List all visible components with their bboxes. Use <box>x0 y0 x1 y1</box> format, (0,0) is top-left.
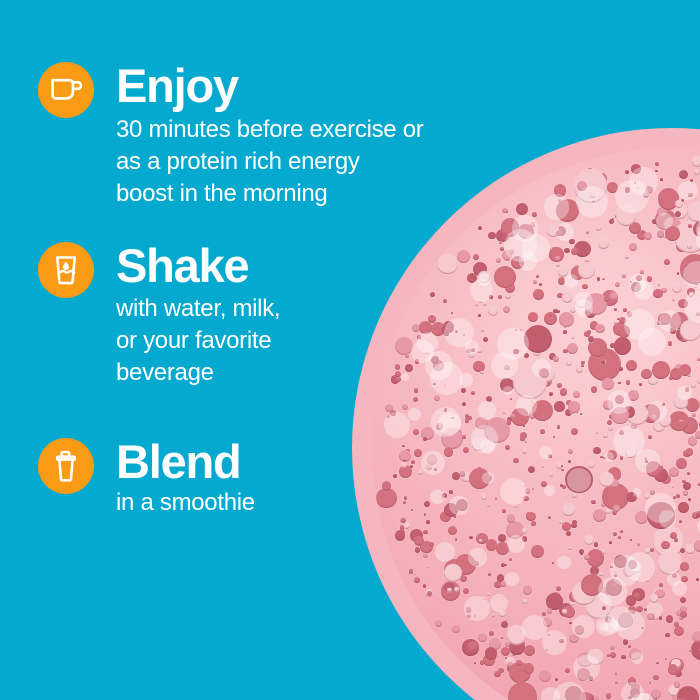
foam-bubble <box>399 343 403 347</box>
foam-highlight <box>683 261 700 290</box>
foam-highlight <box>401 373 409 381</box>
foam-bubble <box>612 218 614 220</box>
foam-bubble <box>689 650 692 653</box>
foam-bubble <box>670 319 680 329</box>
foam-bubble <box>523 496 529 502</box>
foam-bubble <box>565 668 570 673</box>
foam-bubble <box>612 584 615 587</box>
foam-bubble <box>497 574 504 581</box>
foam-highlight <box>557 556 571 570</box>
foam-bubble <box>560 388 567 395</box>
foam-bubble <box>483 654 494 665</box>
foam-bubble <box>505 445 510 450</box>
foam-bubble <box>533 348 541 356</box>
foam-bubble <box>549 353 556 360</box>
foam-bubble <box>647 502 674 529</box>
foam-bubble <box>494 266 516 288</box>
foam-bubble <box>648 376 657 385</box>
foam-bubble <box>590 566 599 575</box>
foam-bubble <box>563 330 567 334</box>
foam-highlight <box>490 594 508 612</box>
foam-bubble <box>461 472 472 483</box>
foam-bubble <box>668 685 679 696</box>
foam-bubble <box>644 493 650 499</box>
foam-bubble <box>513 366 547 400</box>
foam-bubble <box>585 592 612 619</box>
foam-bubble <box>437 254 457 274</box>
foam-bubble <box>558 267 568 277</box>
foam-bubble <box>573 391 580 398</box>
foam-bubble <box>478 314 480 316</box>
foam-bubble <box>405 449 409 453</box>
foam-bubble <box>504 255 510 261</box>
foam-bubble <box>618 536 621 539</box>
foam-bubble <box>515 409 519 413</box>
foam-bubble <box>645 460 648 463</box>
foam-bubble <box>409 569 414 574</box>
foam-bubble <box>507 417 512 422</box>
foam-bubble <box>512 672 518 678</box>
foam-bubble <box>444 574 447 577</box>
foam-bubble <box>547 225 559 237</box>
foam-highlight <box>478 401 497 420</box>
foam-bubble <box>579 589 589 599</box>
foam-bubble <box>496 258 501 263</box>
foam-bubble <box>604 296 610 302</box>
foam-bubble <box>449 434 451 436</box>
foam-bubble <box>673 496 676 499</box>
foam-bubble <box>451 312 453 314</box>
foam-bubble <box>405 354 409 358</box>
foam-bubble <box>486 475 492 481</box>
foam-bubble <box>661 466 664 469</box>
foam-bubble <box>516 203 528 215</box>
foam-bubble <box>681 417 698 434</box>
foam-bubble <box>655 209 676 230</box>
foam-highlight <box>659 510 676 527</box>
foam-bubble <box>576 366 583 373</box>
foam-bubble <box>696 312 700 316</box>
foam-bubble <box>556 586 561 591</box>
foam-bubble <box>390 410 395 415</box>
foam-bubble <box>641 627 643 629</box>
section-heading-blend: Blend <box>116 438 255 485</box>
foam-bubble <box>658 551 681 574</box>
foam-bubble <box>523 373 526 376</box>
foam-bubble <box>520 437 524 441</box>
foam-bubble <box>451 417 453 419</box>
foam-bubble <box>688 498 691 501</box>
foam-bubble <box>562 292 573 303</box>
foam-bubble <box>511 256 524 269</box>
foam-bubble <box>599 572 603 576</box>
foam-highlight <box>564 274 578 288</box>
foam-bubble <box>402 531 405 534</box>
foam-bubble <box>413 397 418 402</box>
foam-highlight <box>459 373 473 387</box>
foam-bubble <box>481 494 487 500</box>
foam-bubble <box>565 686 582 700</box>
foam-bubble <box>584 260 590 266</box>
foam-bubble <box>696 578 699 581</box>
foam-bubble <box>679 420 682 423</box>
foam-bubble <box>607 685 609 687</box>
foam-bubble <box>460 471 466 477</box>
foam-bubble <box>631 683 640 692</box>
foam-bubble <box>557 293 562 298</box>
foam-bubble <box>457 256 459 258</box>
foam-bubble <box>631 424 637 430</box>
section-body-blend: in a smoothie <box>116 487 255 519</box>
foam-bubble <box>626 360 637 371</box>
foam-bubble <box>424 513 426 515</box>
foam-bubble <box>531 521 536 526</box>
foam-bubble <box>427 454 437 464</box>
foam-bubble <box>559 639 563 643</box>
foam-bubble <box>586 231 589 234</box>
foam-bubble <box>584 555 590 561</box>
section-body-enjoy: 30 minutes before exercise or as a prote… <box>116 114 423 210</box>
foam-bubble <box>562 485 566 489</box>
foam-bubble <box>626 492 637 503</box>
foam-bubble <box>672 375 675 378</box>
foam-bubble <box>571 523 576 528</box>
foam-bubble <box>509 639 525 655</box>
foam-highlight <box>637 693 652 700</box>
foam-bubble <box>672 486 674 488</box>
foam-bubble <box>692 156 700 166</box>
foam-bubble <box>510 249 514 253</box>
body-line: as a protein rich energy <box>116 146 423 178</box>
foam-bubble <box>456 499 468 511</box>
foam-bubble <box>620 456 624 460</box>
foam-highlight <box>449 496 469 516</box>
foam-bubble <box>623 565 635 577</box>
foam-bubble <box>468 642 477 651</box>
foam-bubble <box>478 226 482 230</box>
foam-highlight <box>497 328 530 361</box>
foam-bubble <box>631 282 641 292</box>
foam-bubble <box>680 606 686 612</box>
foam-bubble <box>567 343 578 354</box>
foam-bubble <box>649 694 657 700</box>
foam-bubble <box>421 427 434 440</box>
foam-bubble <box>670 368 682 380</box>
foam-bubble <box>402 445 404 447</box>
foam-bubble <box>581 364 584 367</box>
foam-bubble <box>655 170 658 173</box>
foam-bubble <box>603 457 606 460</box>
foam-bubble <box>526 512 533 519</box>
foam-bubble <box>575 586 579 590</box>
foam-bubble <box>635 511 648 524</box>
foam-highlight <box>659 310 681 332</box>
foam-bubble <box>631 164 641 174</box>
foam-bubble <box>557 425 560 428</box>
foam-bubble <box>657 207 667 217</box>
foam-bubble <box>505 642 510 647</box>
foam-bubble <box>463 447 469 453</box>
foam-bubble <box>660 178 663 181</box>
foam-bubble <box>431 322 445 336</box>
foam-bubble <box>569 239 574 244</box>
foam-highlight <box>615 180 648 213</box>
foam-bubble <box>669 467 678 476</box>
foam-bubble <box>449 490 453 494</box>
foam-bubble <box>426 565 429 568</box>
foam-bubble <box>602 606 606 610</box>
foam-bubble <box>455 330 458 333</box>
foam-bubble <box>675 211 681 217</box>
foam-highlight <box>678 181 697 200</box>
foam-bubble <box>669 411 689 431</box>
foam-bubble <box>570 601 574 605</box>
foam-bubble <box>445 510 447 512</box>
foam-bubble <box>548 454 552 458</box>
foam-bubble <box>474 662 477 665</box>
foam-bubble <box>404 496 408 500</box>
foam-bubble <box>676 494 680 498</box>
foam-highlight <box>598 577 627 606</box>
foam-bubble <box>524 387 533 396</box>
foam-bubble <box>670 327 677 334</box>
foam-bubble <box>525 488 531 494</box>
foam-bubble <box>498 295 502 299</box>
foam-bubble <box>486 396 492 402</box>
foam-bubble <box>602 290 617 305</box>
foam-bubble <box>571 266 584 279</box>
foam-highlight <box>633 488 642 497</box>
foam-bubble <box>444 408 448 412</box>
foam-bubble <box>469 536 472 539</box>
instruction-row-shake: Shake with water, milk, or your favorite… <box>38 242 280 389</box>
foam-bubble <box>624 408 632 416</box>
foam-highlight <box>491 352 518 379</box>
foam-bubble <box>441 325 450 334</box>
foam-bubble <box>544 386 546 388</box>
foam-bubble <box>529 411 536 418</box>
foam-bubble <box>657 230 665 238</box>
foam-bubble <box>659 583 663 587</box>
foam-bubble <box>598 608 601 611</box>
foam-bubble <box>376 488 397 509</box>
foam-bubble <box>664 259 670 265</box>
foam-bubble <box>489 631 495 637</box>
foam-bubble <box>610 566 613 569</box>
foam-bubble <box>642 404 661 423</box>
foam-bubble <box>564 326 566 328</box>
foam-bubble <box>570 307 576 313</box>
foam-bubble <box>679 615 684 620</box>
foam-bubble <box>587 649 603 665</box>
foam-bubble <box>679 520 682 523</box>
foam-bubble <box>625 187 630 192</box>
foam-bubble <box>504 564 507 567</box>
foam-highlight <box>696 217 700 243</box>
foam-bubble <box>513 349 518 354</box>
foam-bubble <box>631 413 635 417</box>
foam-bubble <box>692 413 696 417</box>
foam-bubble <box>523 663 533 673</box>
foam-bubble <box>410 529 423 542</box>
foam-highlight <box>604 452 614 462</box>
foam-bubble <box>549 314 552 317</box>
foam-bubble <box>629 648 641 660</box>
foam-bubble <box>679 688 699 700</box>
foam-bubble <box>533 289 544 300</box>
foam-bubble <box>401 462 407 468</box>
foam-bubble <box>619 367 623 371</box>
foam-bubble <box>522 528 527 533</box>
foam-bubble <box>628 696 632 700</box>
foam-bubble <box>562 522 572 532</box>
foam-bubble <box>628 645 631 648</box>
foam-bubble <box>686 450 690 454</box>
foam-bubble <box>611 407 629 425</box>
foam-bubble <box>444 447 454 457</box>
foam-highlight <box>478 273 491 286</box>
foam-bubble <box>635 579 638 582</box>
body-line: or your favorite <box>116 325 280 357</box>
foam-bubble <box>575 589 577 591</box>
foam-bubble <box>623 212 634 223</box>
foam-bubble <box>593 509 606 522</box>
foam-bubble <box>414 577 420 583</box>
foam-bubble <box>431 356 439 364</box>
foam-bubble <box>414 388 419 393</box>
foam-bubble <box>654 468 668 482</box>
foam-bubble <box>466 607 472 613</box>
foam-bubble <box>559 312 574 327</box>
foam-bubble <box>485 647 498 660</box>
foam-bubble <box>426 520 430 524</box>
foam-bubble <box>465 418 469 422</box>
foam-bubble <box>452 472 460 480</box>
foam-highlight <box>567 468 591 492</box>
foam-bubble <box>687 373 691 377</box>
foam-bubble <box>668 664 678 674</box>
foam-bubble <box>615 282 620 287</box>
foam-bubble <box>685 544 694 553</box>
foam-bubble <box>471 471 482 482</box>
foam-bubble <box>605 616 612 623</box>
foam-highlight <box>608 606 633 631</box>
foam-bubble <box>556 310 560 314</box>
foam-bubble <box>578 262 595 279</box>
foam-bubble <box>646 579 650 583</box>
foam-bubble <box>661 541 670 550</box>
foam-bubble <box>574 241 590 257</box>
foam-bubble <box>646 461 661 476</box>
foam-bubble <box>608 425 613 430</box>
foam-bubble <box>639 383 642 386</box>
foam-bubble <box>494 581 501 588</box>
foam-bubble <box>444 503 457 516</box>
foam-bubble <box>385 492 389 496</box>
shaker-bottle-icon-badge <box>38 438 94 494</box>
foam-bubble <box>453 429 463 439</box>
foam-bubble <box>391 375 399 383</box>
foam-bubble <box>689 292 694 297</box>
glass-rim <box>352 128 700 700</box>
foam-bubble <box>644 548 650 554</box>
foam-bubble <box>646 602 663 619</box>
foam-bubble <box>610 479 619 488</box>
foam-bubble <box>540 367 555 382</box>
foam-bubble <box>644 608 648 612</box>
foam-bubble <box>441 581 460 600</box>
foam-bubble <box>505 293 511 299</box>
foam-bubble <box>463 588 469 594</box>
foam-highlight <box>624 309 655 340</box>
foam-bubble <box>623 406 635 418</box>
foam-bubble <box>598 239 608 249</box>
foam-bubble <box>467 273 477 283</box>
foam-highlight <box>684 290 700 323</box>
foam-bubble <box>547 633 550 636</box>
foam-bubble <box>597 587 609 599</box>
foam-bubble <box>672 691 683 700</box>
foam-bubble <box>443 321 455 333</box>
foam-highlight <box>438 412 461 435</box>
foam-bubble <box>676 323 680 327</box>
foam-bubble <box>643 375 647 379</box>
foam-bubble <box>680 597 686 603</box>
foam-bubble <box>426 465 431 470</box>
cup-icon-badge <box>38 62 94 118</box>
foam-bubble <box>697 358 699 360</box>
foam-bubble <box>596 432 598 434</box>
foam-bubble <box>590 321 599 330</box>
foam-bubble <box>588 348 621 381</box>
foam-bubble <box>516 660 522 666</box>
foam-bubble <box>568 547 572 551</box>
foam-bubble <box>587 192 591 196</box>
foam-bubble <box>589 676 594 681</box>
foam-bubble <box>641 369 652 380</box>
foam-bubble <box>585 306 597 318</box>
foam-highlight <box>504 229 537 262</box>
foam-bubble <box>611 578 616 583</box>
foam-bubble <box>549 247 563 261</box>
foam-bubble <box>548 516 551 519</box>
foam-bubble <box>552 247 556 251</box>
foam-bubble <box>559 520 563 524</box>
foam-bubble <box>581 361 585 365</box>
foam-bubble <box>687 288 694 295</box>
foam-bubble <box>532 212 537 217</box>
foam-bubble <box>502 509 506 513</box>
foam-bubble <box>481 329 484 332</box>
foam-bubble <box>684 263 688 267</box>
foam-bubble <box>692 631 700 642</box>
foam-bubble <box>569 609 575 615</box>
foam-bubble <box>410 465 413 468</box>
foam-bubble <box>512 652 516 656</box>
foam-bubble <box>658 313 670 325</box>
foam-bubble <box>683 482 691 490</box>
foam-bubble <box>442 493 447 498</box>
foam-bubble <box>563 349 567 353</box>
foam-bubble <box>403 501 406 504</box>
foam-bubble <box>680 562 688 570</box>
foam-highlight <box>599 622 608 631</box>
foam-bubble <box>495 497 498 500</box>
foam-bubble <box>542 466 544 468</box>
foam-bubble <box>609 541 612 544</box>
foam-bubble <box>484 417 510 443</box>
foam-bubble <box>549 472 553 476</box>
